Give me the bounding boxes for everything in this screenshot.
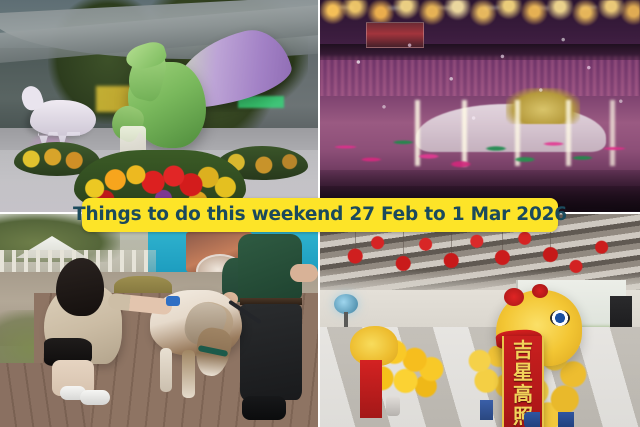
collage-panel-top-left[interactable] — [0, 0, 318, 212]
br-lion-left-red-trim — [360, 360, 382, 418]
bl-visitor-hair — [56, 258, 104, 316]
bl-pony-foreleg — [160, 348, 172, 392]
bl-handler-boot — [242, 396, 286, 420]
bl-bystander-arm — [290, 264, 318, 282]
bl-visitor-shoe-right — [80, 390, 110, 405]
headline-banner: Things to do this weekend 27 Feb to 1 Ma… — [82, 198, 558, 232]
bl-grooming-brush — [166, 296, 180, 306]
br-lion-pompom-1 — [504, 288, 524, 306]
collage-panel-bottom-right[interactable]: Paris 吉 星 高 照 — [320, 214, 640, 427]
tl-white-horse-sculpture — [30, 100, 96, 136]
headline-text: Things to do this weekend 27 Feb to 1 Ma… — [73, 206, 567, 225]
br-red-lanterns — [320, 222, 640, 296]
br-scroll-character-3: 高 — [513, 384, 533, 405]
br-stage-spotlight — [334, 294, 358, 314]
collage-panel-bottom-left[interactable] — [0, 214, 318, 427]
bl-pony-hindleg — [182, 350, 195, 398]
photo-lion-dance: Paris 吉 星 高 照 — [320, 214, 640, 427]
br-scroll-character-2: 星 — [513, 362, 533, 383]
image-collage: Paris 吉 星 高 照 Things to — [0, 0, 640, 427]
br-scroll-character-1: 吉 — [513, 340, 533, 361]
br-lion-front-feet — [524, 412, 578, 427]
br-lion-left-leg — [386, 396, 400, 416]
br-lion-eye — [550, 310, 570, 326]
bl-handler-pants — [240, 304, 302, 400]
br-lion-pompom-2 — [532, 284, 548, 298]
photo-night-stage-parade — [320, 0, 640, 212]
photo-pegasus-flower-display — [0, 0, 318, 212]
tr-confetti — [320, 20, 640, 160]
collage-panel-top-right[interactable] — [320, 0, 640, 212]
photo-pony-petting-farm — [0, 214, 318, 427]
